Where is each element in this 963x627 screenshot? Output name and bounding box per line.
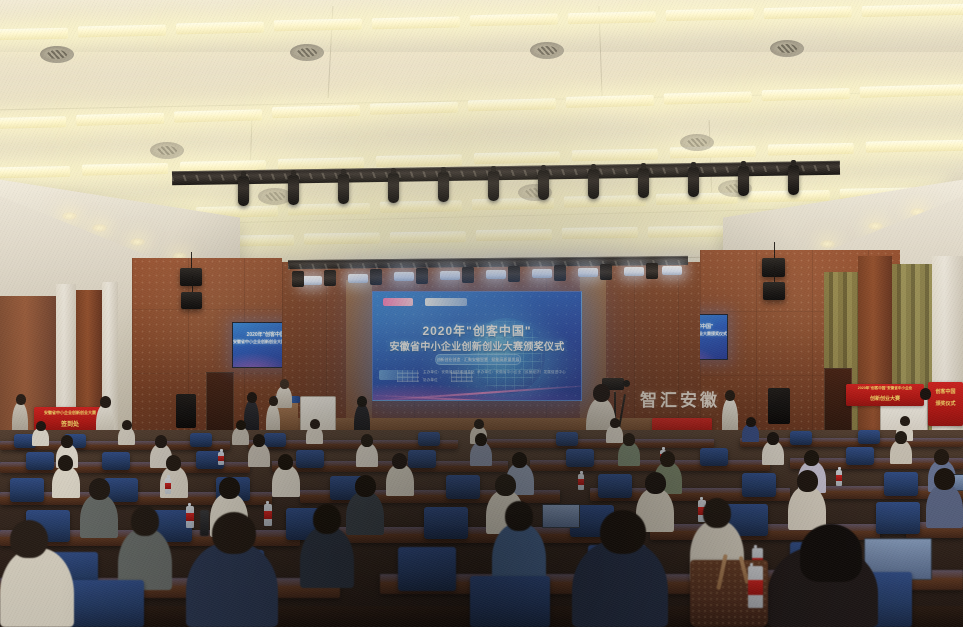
recessed-downlight	[868, 222, 883, 230]
water-bottle	[836, 470, 842, 486]
standing-staff-stage-a-head	[247, 392, 257, 403]
screen-logo-right	[425, 298, 467, 306]
banner-left-line1: 安徽省中小企业创新创业大赛	[34, 410, 106, 416]
standing-staff-right-a	[722, 398, 738, 434]
camera-operator-head	[593, 384, 610, 402]
screen-logo-left	[383, 298, 413, 306]
banner-right-line2: 创新创业大赛	[846, 395, 924, 402]
screen-title-secondary: 安徽省中小企业创新创业大赛颁奖仪式	[373, 338, 581, 353]
line-array-speaker-left-lower	[181, 292, 202, 309]
side-door-left[interactable]	[206, 372, 234, 436]
water-bottle	[748, 566, 763, 608]
screen-title-primary: 2020年"创客中国"	[373, 322, 581, 339]
screen-wave-graphic	[372, 364, 582, 401]
water-bottle	[578, 474, 584, 490]
water-bottle	[186, 506, 194, 528]
banner-far-right-line2: 颁奖仪式	[928, 400, 963, 407]
recessed-downlight	[130, 238, 145, 246]
standing-staff-stage-c-head	[357, 396, 367, 407]
conference-hall-photo: 2020年"创客中国" 安徽省中小企业创新创业大赛颁奖仪式 2020年"创客中国…	[0, 0, 963, 627]
banner-right-line1: 2020年"创客中国"安徽省中小企业	[846, 386, 924, 391]
subwoofer-right	[768, 388, 790, 424]
banner-right-red: 2020年"创客中国"安徽省中小企业 创新创业大赛	[846, 384, 924, 406]
ceiling-vent	[770, 40, 804, 57]
ceiling-vent	[680, 134, 714, 151]
foreground-attendee-right-head	[800, 524, 862, 582]
standing-staff-right-a-head	[725, 390, 735, 401]
standing-staff-stage-b-head	[269, 396, 278, 406]
wall-signage: 智汇安徽	[640, 386, 720, 411]
ceiling-light-row-2	[0, 84, 963, 134]
laptop	[542, 504, 580, 528]
stage-presenter	[276, 386, 292, 408]
ceiling-vent	[40, 46, 74, 63]
water-bottle	[165, 478, 171, 494]
recessed-downlight	[92, 224, 107, 232]
subwoofer-left	[176, 394, 196, 428]
standing-staff-right-b-head	[920, 388, 931, 400]
water-bottle	[264, 504, 272, 526]
stage-led-screen: 2020年"创客中国" 安徽省中小企业创新创业大赛颁奖仪式 创新创业创造 · 汇…	[372, 291, 582, 401]
stage-presenter-head	[280, 379, 289, 389]
standing-staff-left-2-head	[16, 394, 26, 405]
ceiling-vent	[150, 142, 184, 159]
water-bottle	[218, 452, 224, 465]
banner-far-right-line1: 创客中国	[928, 388, 963, 395]
recessed-downlight	[820, 240, 835, 248]
ceiling-vent	[258, 188, 292, 205]
ceiling-vent	[290, 44, 324, 61]
recessed-downlight	[62, 212, 77, 220]
standing-staff-left-head	[100, 396, 111, 408]
line-array-speaker-right-lower	[763, 282, 785, 300]
standing-staff-right-b	[916, 396, 934, 434]
ceiling-vent	[530, 42, 564, 59]
thermos-cup	[200, 510, 209, 536]
